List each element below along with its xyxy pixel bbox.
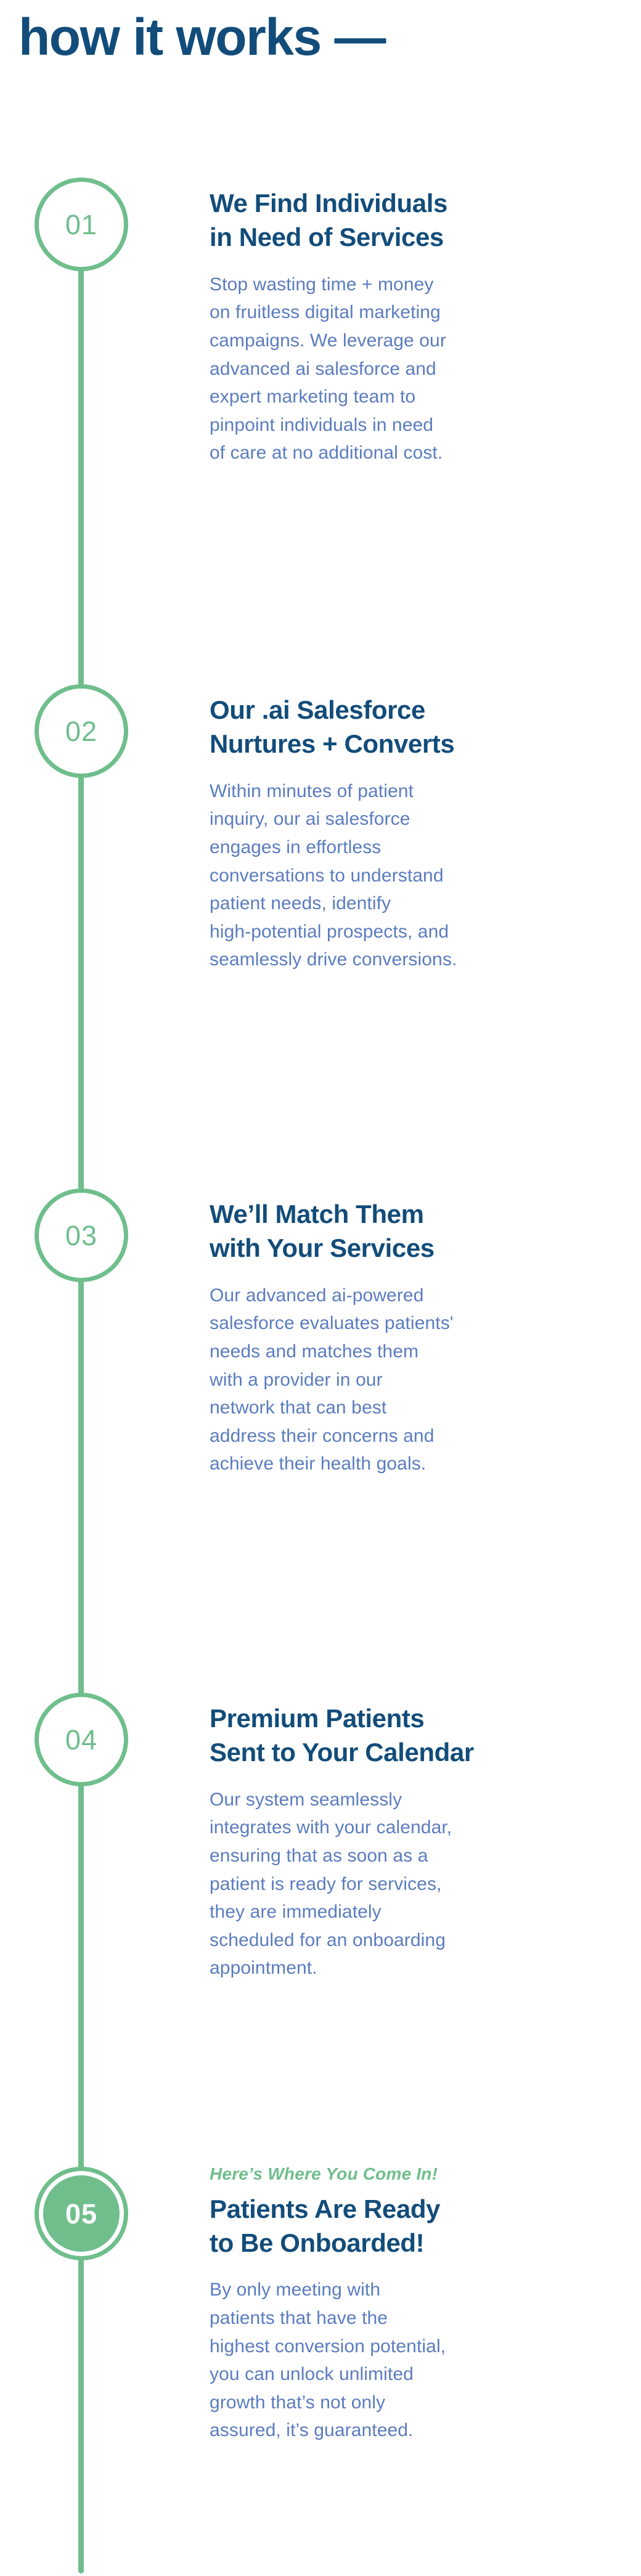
steps-list: 01 We Find Individuals in Need of Servic… bbox=[0, 0, 641, 2576]
step-body: Our advanced ai-powered salesforce evalu… bbox=[210, 1282, 616, 1478]
step-content: We Find Individuals in Need of Services … bbox=[210, 186, 616, 467]
step-number-label: 03 bbox=[65, 1222, 97, 1249]
step-content: Here’s Where You Come In! Patients Are R… bbox=[210, 2164, 616, 2445]
step-title: Our .ai Salesforce Nurtures + Converts bbox=[210, 693, 616, 761]
step-body: By only meeting with patients that have … bbox=[210, 2276, 616, 2445]
step-number-label: 01 bbox=[65, 211, 97, 239]
step-title: Premium Patients Sent to Your Calendar bbox=[210, 1701, 616, 1770]
step-marker-fill: 05 bbox=[43, 2175, 120, 2252]
step-marker-04[interactable]: 04 bbox=[35, 1693, 128, 1786]
step-title: We Find Individuals in Need of Services bbox=[210, 186, 616, 255]
step-marker-05[interactable]: 05 bbox=[35, 2167, 128, 2260]
step-content: Our .ai Salesforce Nurtures + Converts W… bbox=[210, 693, 616, 974]
step-number-label: 04 bbox=[65, 1726, 97, 1754]
step-marker-03[interactable]: 03 bbox=[35, 1188, 128, 1282]
step-body: Within minutes of patient inquiry, our a… bbox=[210, 777, 616, 974]
step-eyebrow: Here’s Where You Come In! bbox=[210, 2164, 616, 2185]
step-title: We’ll Match Them with Your Services bbox=[210, 1197, 616, 1266]
step-number-label: 05 bbox=[65, 2200, 97, 2228]
step-number-label: 02 bbox=[65, 718, 97, 745]
step-marker-01[interactable]: 01 bbox=[35, 178, 128, 271]
step-marker-02[interactable]: 02 bbox=[35, 684, 128, 778]
step-content: Premium Patients Sent to Your Calendar O… bbox=[210, 1701, 616, 1982]
step-title: Patients Are Ready to Be Onboarded! bbox=[210, 2192, 616, 2260]
step-content: We’ll Match Them with Your Services Our … bbox=[210, 1197, 616, 1478]
step-body: Stop wasting time + money on fruitless d… bbox=[210, 271, 616, 467]
step-body: Our system seamlessly integrates with yo… bbox=[210, 1786, 616, 1982]
